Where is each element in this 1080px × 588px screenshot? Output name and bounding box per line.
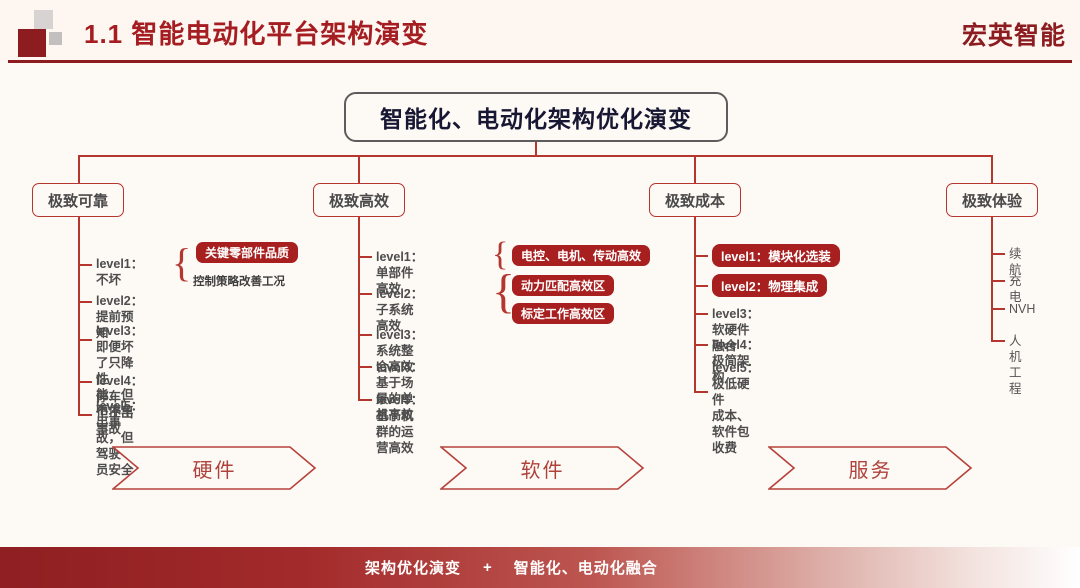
row-tick [78, 301, 92, 303]
connector-root-trunk [535, 142, 537, 156]
logo-square-gray-small [49, 32, 62, 45]
category-box-cost[interactable]: 极致成本 [649, 183, 741, 217]
list-item: NVH [1009, 301, 1035, 317]
root-node-label: 智能化、电动化架构优化演变 [380, 100, 692, 134]
row-tick [78, 264, 92, 266]
row-tick [78, 414, 92, 416]
footer-content: 架构优化演变 + 智能化、电动化融合 [365, 547, 658, 588]
row-tick [78, 381, 92, 383]
category-box-reliability[interactable]: 极致可靠 [32, 183, 124, 217]
note-control-strategy: 控制策略改善工况 [193, 273, 285, 289]
column-spine-cost [694, 239, 696, 391]
badge-level1-modular[interactable]: level1：模块化选装 [712, 244, 840, 267]
row-tick [991, 253, 1005, 255]
list-item: level1：不坏 [96, 256, 143, 288]
logo-square-gray-top [34, 10, 53, 29]
footer-right-text: 智能化、电动化融合 [514, 557, 658, 578]
connector-drop-3 [694, 155, 696, 183]
category-label-cost: 极致成本 [665, 190, 725, 211]
list-item: level5：极低硬件 成本、软件包收费 [712, 360, 759, 456]
connector-drop-4 [991, 155, 993, 183]
row-tick [358, 366, 372, 368]
row-tick [694, 255, 708, 257]
category-label-efficiency: 极致高效 [329, 190, 389, 211]
banner-hardware[interactable]: 硬件 [112, 446, 317, 490]
connector-bus [78, 155, 993, 157]
category-box-efficiency[interactable]: 极致高效 [313, 183, 405, 217]
connector-stem-2 [358, 217, 360, 239]
row-tick [78, 339, 92, 341]
diagram-stage: 智能化、电动化架构优化演变 极致可靠 极致高效 极致成本 极致体验 level1… [0, 63, 1080, 543]
list-item: level5：基于机群的运营高效 [376, 392, 423, 456]
connector-drop-1 [78, 155, 80, 183]
category-label-reliability: 极致可靠 [48, 190, 108, 211]
row-tick [991, 340, 1005, 342]
badge-key-part-quality[interactable]: 关键零部件品质 [196, 242, 298, 263]
banner-label-hardware: 硬件 [193, 454, 237, 483]
badge-component-efficiency[interactable]: 电控、电机、传动高效 [512, 245, 650, 266]
page-title: 1.1 智能电动化平台架构演变 [84, 14, 428, 51]
badge-power-match-zone[interactable]: 动力匹配高效区 [512, 275, 614, 296]
row-tick [358, 256, 372, 258]
badge-calibration-zone[interactable]: 标定工作高效区 [512, 303, 614, 324]
brace-icon: { [172, 243, 191, 283]
row-tick [358, 293, 372, 295]
row-tick [694, 391, 708, 393]
connector-stem-4 [991, 217, 993, 239]
footer-plus-sign: + [483, 559, 492, 576]
row-tick [991, 280, 1005, 282]
row-tick [358, 334, 372, 336]
logo-square-red [18, 29, 46, 57]
brand-wordmark: 宏英智能 [962, 16, 1066, 52]
row-tick [694, 313, 708, 315]
banner-label-service: 服务 [849, 454, 893, 483]
row-tick [991, 308, 1005, 310]
slide-header: 1.1 智能电动化平台架构演变 宏英智能 [0, 0, 1080, 62]
list-item: 人机工程 [1009, 333, 1022, 397]
footer-left-text: 架构优化演变 [365, 557, 461, 578]
row-tick [358, 399, 372, 401]
banner-label-software: 软件 [521, 454, 565, 483]
slide-footer: 架构优化演变 + 智能化、电动化融合 [0, 547, 1080, 588]
connector-drop-2 [358, 155, 360, 183]
connector-stem-1 [78, 217, 80, 239]
banner-software[interactable]: 软件 [440, 446, 645, 490]
category-box-experience[interactable]: 极致体验 [946, 183, 1038, 217]
badge-level2-physical-integration[interactable]: level2：物理集成 [712, 274, 827, 297]
category-label-experience: 极致体验 [962, 190, 1022, 211]
row-tick [694, 344, 708, 346]
banner-service[interactable]: 服务 [768, 446, 973, 490]
root-node: 智能化、电动化架构优化演变 [344, 92, 728, 142]
column-spine-efficiency [358, 239, 360, 399]
three-squares-logo-icon [18, 10, 70, 55]
connector-stem-3 [694, 217, 696, 239]
row-tick [694, 285, 708, 287]
